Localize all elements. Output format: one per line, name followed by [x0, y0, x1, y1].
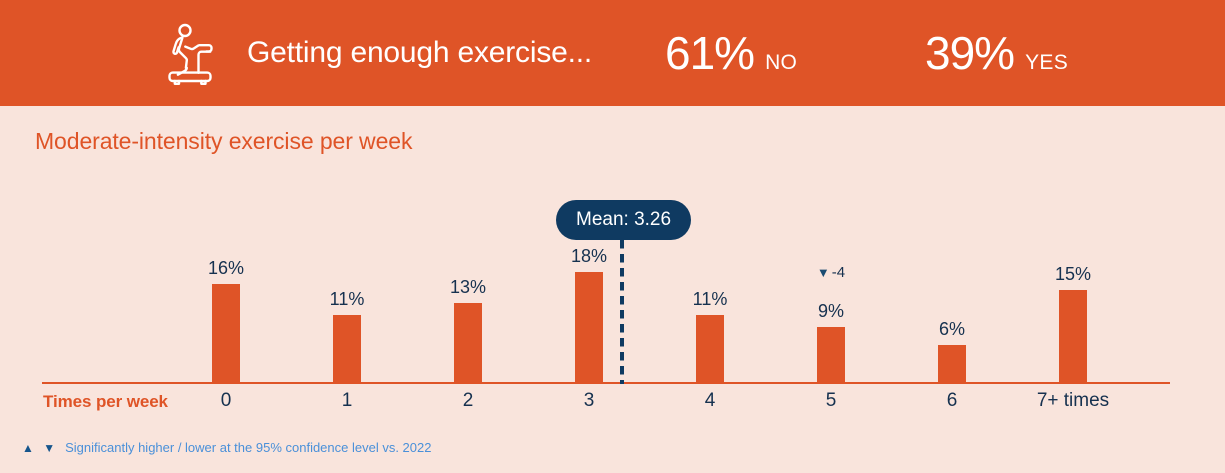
- bar[interactable]: [696, 315, 724, 382]
- x-tick-label: 1: [286, 390, 408, 412]
- bar[interactable]: [212, 284, 240, 382]
- bar-value-label: 6%: [939, 319, 965, 340]
- bar-value-label: 9%: [818, 301, 844, 322]
- x-tick-label: 3: [528, 390, 650, 412]
- x-tick-label: 0: [165, 390, 287, 412]
- x-tick-label: 7+ times: [1012, 390, 1134, 412]
- bar-group-2[interactable]: 13%: [407, 207, 529, 382]
- bar-group-3[interactable]: 18%: [528, 207, 650, 382]
- stat-no-value: 61%: [665, 30, 754, 76]
- bar[interactable]: [575, 272, 603, 382]
- bar[interactable]: [454, 303, 482, 382]
- x-axis-line: [42, 382, 1170, 384]
- triangle-down-icon: ▼: [817, 266, 830, 279]
- bar-group-0[interactable]: 16%: [165, 207, 287, 382]
- bar-value-label: 13%: [450, 277, 486, 298]
- bar-value-label: 18%: [571, 246, 607, 267]
- stat-yes-label: YES: [1025, 51, 1068, 75]
- significance-delta: -4: [832, 264, 845, 281]
- bar-chart: Times per week Mean: 3.26 16%11%13%18%11…: [0, 160, 1225, 430]
- bar[interactable]: [817, 327, 845, 382]
- stat-no-label: NO: [765, 51, 797, 75]
- bar[interactable]: [333, 315, 361, 382]
- stat-no: 61% NO: [665, 30, 797, 76]
- header-question: Getting enough exercise...: [247, 36, 592, 70]
- header-banner: Getting enough exercise... 61% NO 39% YE…: [0, 0, 1225, 106]
- bar-value-label: 11%: [330, 289, 365, 310]
- bar-group-1[interactable]: 11%: [286, 207, 408, 382]
- x-tick-label: 4: [649, 390, 771, 412]
- footnote-text: Significantly higher / lower at the 95% …: [65, 440, 431, 455]
- stat-yes: 39% YES: [925, 30, 1068, 76]
- bar-group-6[interactable]: 6%: [891, 207, 1013, 382]
- stat-yes-value: 39%: [925, 30, 1014, 76]
- treadmill-icon: [152, 16, 228, 92]
- x-tick-label: 6: [891, 390, 1013, 412]
- bar-value-label: 11%: [693, 289, 728, 310]
- bar-group-7-times[interactable]: 15%: [1012, 207, 1134, 382]
- axis-caption: Times per week: [43, 392, 168, 412]
- x-tick-label: 5: [770, 390, 892, 412]
- footnote: ▲ ▼ Significantly higher / lower at the …: [22, 440, 431, 455]
- bar-value-label: 15%: [1055, 264, 1091, 285]
- x-tick-label: 2: [407, 390, 529, 412]
- chart-title: Moderate-intensity exercise per week: [35, 128, 412, 155]
- bar-group-5[interactable]: ▼-49%: [770, 207, 892, 382]
- significance-marker: ▼-4: [817, 264, 845, 281]
- significance-arrows-icon: ▲ ▼: [22, 441, 58, 455]
- bar[interactable]: [938, 345, 966, 382]
- bar[interactable]: [1059, 290, 1087, 382]
- bar-value-label: 16%: [208, 258, 244, 279]
- bar-group-4[interactable]: 11%: [649, 207, 771, 382]
